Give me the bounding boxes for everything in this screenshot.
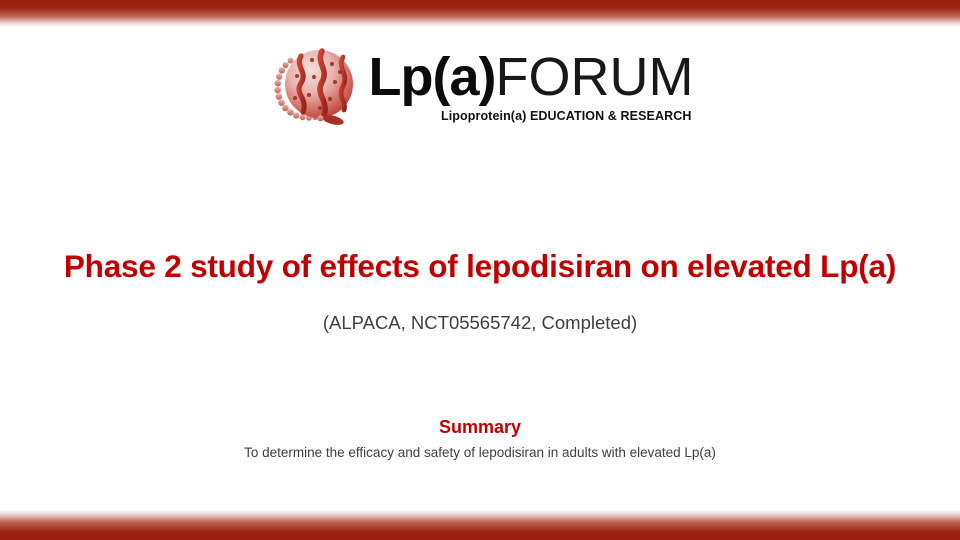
top-accent-bar	[0, 0, 960, 27]
presentation-slide: Lp(a) FORUM Lipoprotein(a) EDUCATION & R…	[0, 0, 960, 540]
slide-subtitle: (ALPACA, NCT05565742, Completed)	[0, 312, 960, 334]
summary-body: To determine the efficacy and safety of …	[0, 445, 960, 460]
logo-word-forum: FORUM	[496, 50, 694, 104]
logo-text: Lp(a) FORUM Lipoprotein(a) EDUCATION & R…	[369, 50, 694, 123]
lipoprotein-a-particle-icon	[267, 40, 363, 132]
slide-title: Phase 2 study of effects of lepodisiran …	[0, 248, 960, 284]
logo-tagline: Lipoprotein(a) EDUCATION & RESEARCH	[441, 109, 692, 123]
summary-heading: Summary	[0, 417, 960, 438]
logo-word-lpa: Lp(a)	[369, 50, 496, 104]
logo-wordmark: Lp(a) FORUM	[369, 50, 694, 104]
lpa-forum-logo: Lp(a) FORUM Lipoprotein(a) EDUCATION & R…	[0, 40, 960, 132]
logo-inner: Lp(a) FORUM Lipoprotein(a) EDUCATION & R…	[267, 40, 694, 132]
bottom-accent-bar	[0, 510, 960, 540]
